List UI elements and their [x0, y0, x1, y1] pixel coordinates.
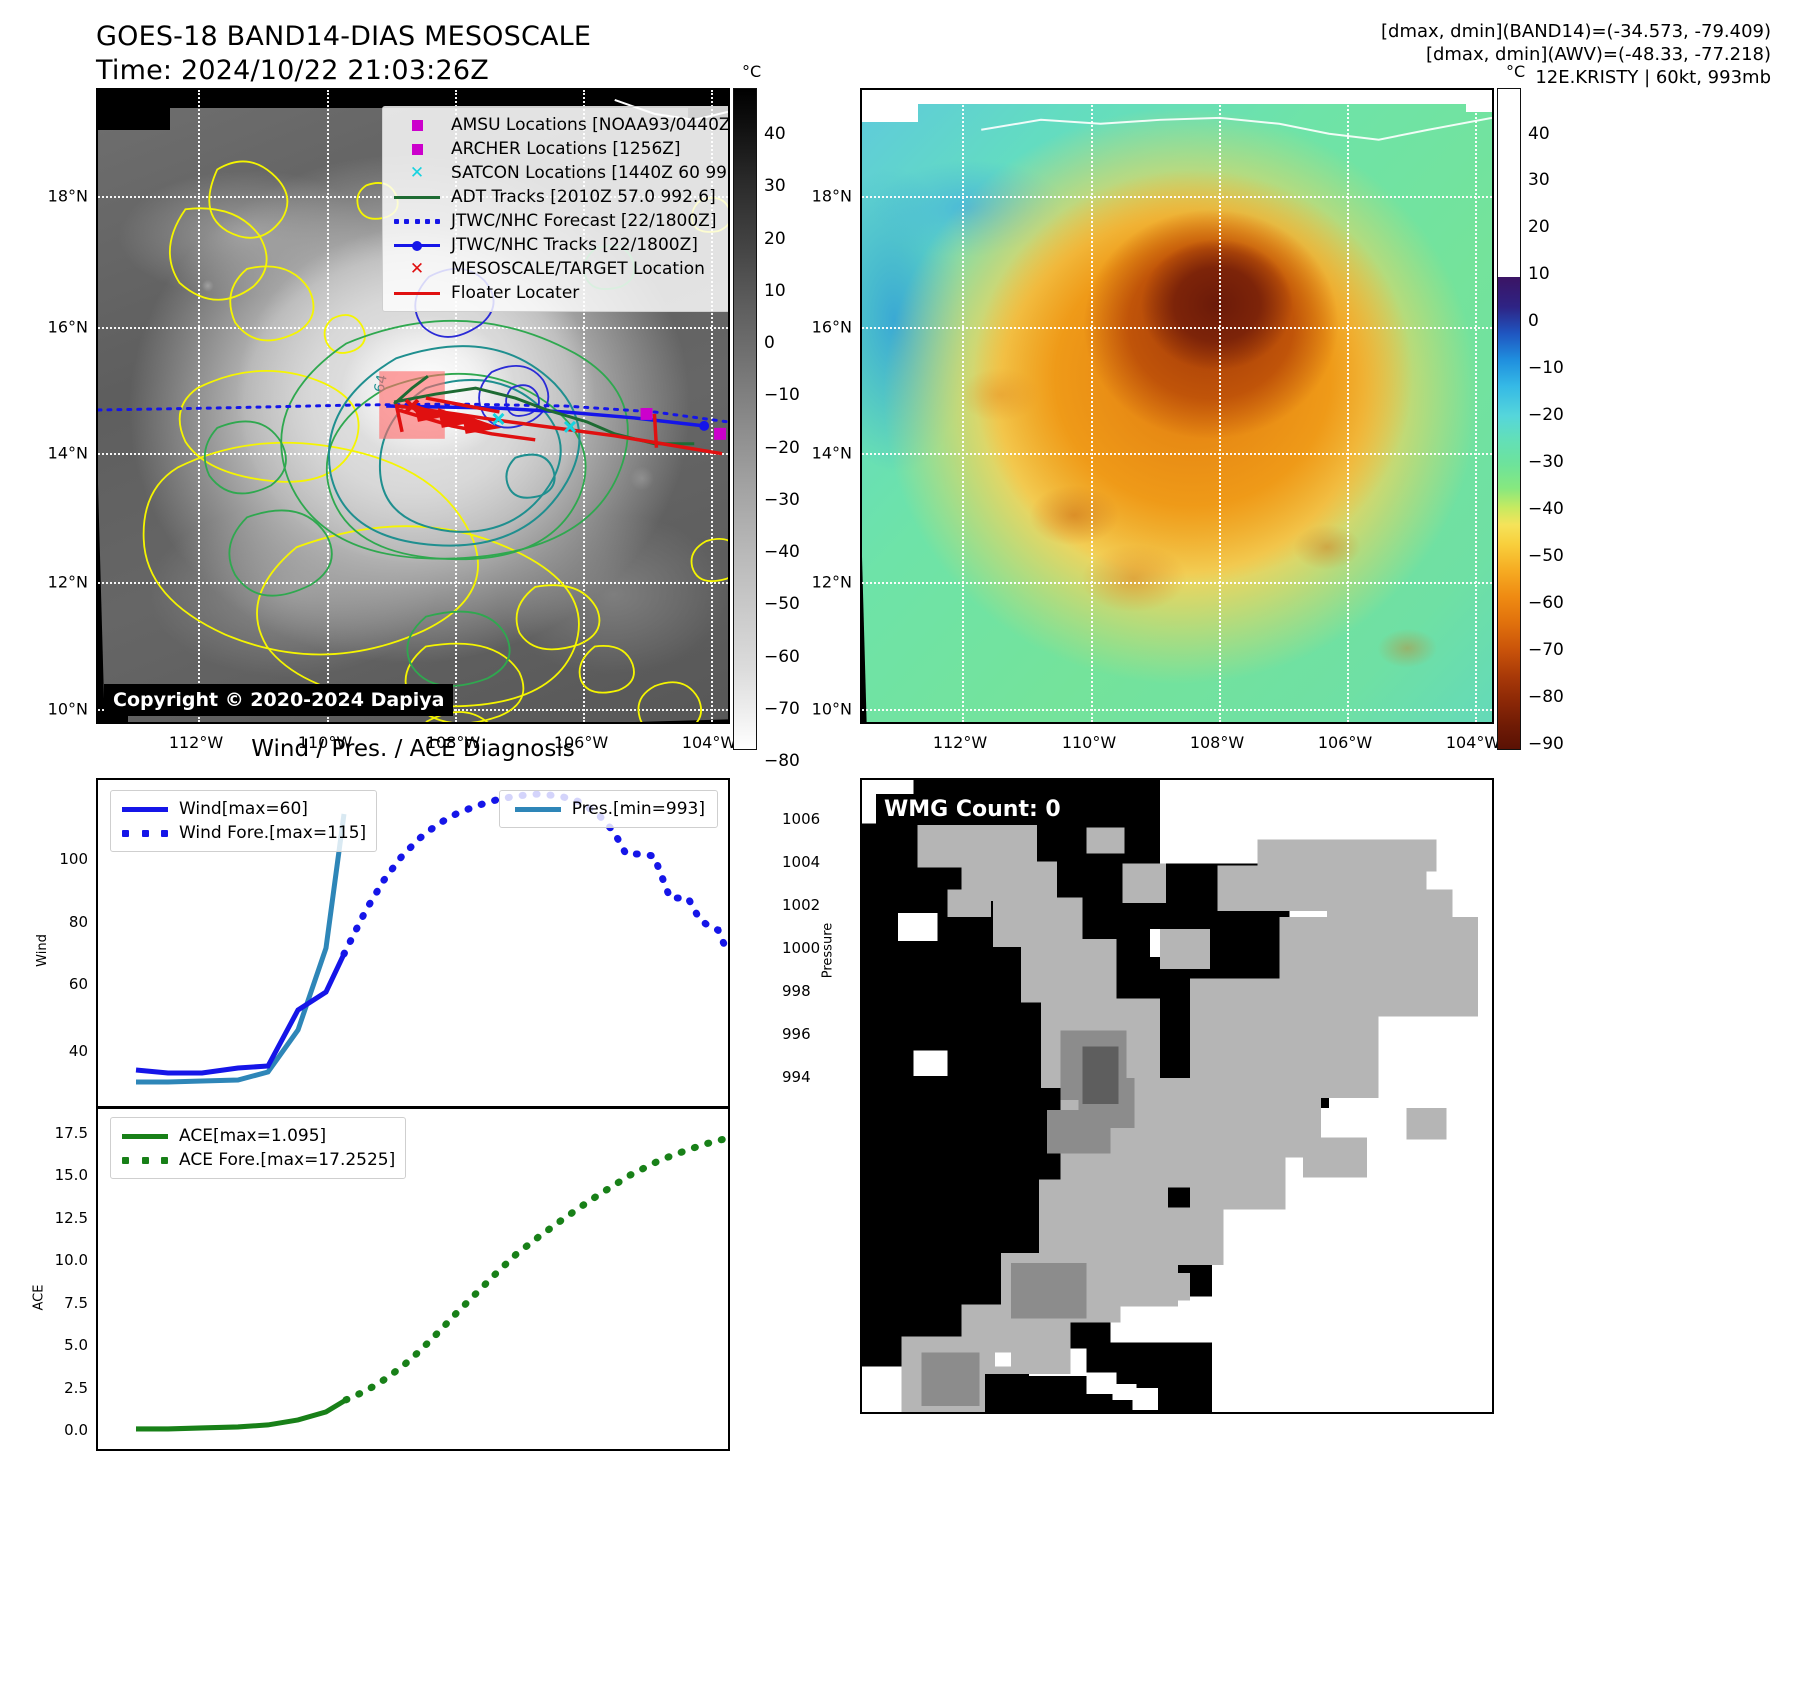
- archer-location-marker: [641, 408, 653, 420]
- wind-ytick-100: 100: [59, 850, 88, 868]
- legend-item-floater-locater[interactable]: Floater Locater: [391, 281, 730, 305]
- legend-label: AMSU Locations [NOAA93/0440Z 50 994]: [451, 114, 730, 136]
- pressure-ylabel: Pressure: [820, 923, 835, 979]
- wv-ytick-18N: 18°N: [812, 187, 852, 206]
- legend-label: SATCON Locations [1440Z 60 998]: [451, 162, 730, 184]
- wv-ytick-10N: 10°N: [812, 700, 852, 719]
- legend-label: ARCHER Locations [1256Z]: [451, 138, 681, 160]
- wind-forecast-dotted-icon: [119, 831, 171, 836]
- page-title: GOES-18 BAND14-DIAS MESOSCALE: [96, 20, 796, 54]
- wmg-count-label: WMG Count: 0: [876, 794, 1069, 825]
- wv-xtick-106W: 106°W: [1318, 733, 1372, 752]
- ace-ytick-0: 0.0: [64, 1421, 88, 1439]
- wmg-cluster-map: [862, 780, 1492, 1412]
- ace-ytick-12.5: 12.5: [55, 1209, 88, 1227]
- floater-line-icon: [391, 292, 443, 295]
- dmax-dmin-band14: [dmax, dmin](BAND14)=(-34.573, -79.409): [1381, 20, 1771, 43]
- legend-label: MESOSCALE/TARGET Location: [451, 258, 705, 280]
- ir-colorbar-gradient: [733, 88, 757, 750]
- legend-item-adt[interactable]: ADT Tracks [2010Z 57.0 992.6]: [391, 185, 730, 209]
- ir-ytick-12N: 12°N: [48, 573, 88, 592]
- wind-chart-legend[interactable]: Wind[max=60] Wind Fore.[max=115]: [110, 790, 377, 852]
- series-pressure: [136, 814, 344, 1082]
- wmg-panel[interactable]: WMG Count: 0: [860, 778, 1494, 1414]
- ir-ytick-14N: 14°N: [48, 444, 88, 463]
- wv-coastline-overlay: [862, 90, 1492, 722]
- legend-item-jtwc-forecast[interactable]: JTWC/NHC Forecast [22/1800Z]: [391, 209, 730, 233]
- wv-xtick-110W: 110°W: [1062, 733, 1116, 752]
- ace-ytick-7.5: 7.5: [64, 1294, 88, 1312]
- ace-ytick-15: 15.0: [55, 1166, 88, 1184]
- wind-ytick-80: 80: [69, 913, 88, 931]
- legend-label: Pres.[min=993]: [572, 798, 705, 820]
- ir-ytick-18N: 18°N: [48, 187, 88, 206]
- wv-colorbar-units: °C: [1506, 62, 1525, 81]
- ace-line-icon: [119, 1134, 171, 1139]
- page-title-block: GOES-18 BAND14-DIAS MESOSCALE Time: 2024…: [96, 20, 796, 88]
- amsu-location-marker: [714, 428, 726, 440]
- ace-ytick-2.5: 2.5: [64, 1379, 88, 1397]
- legend-label: ACE[max=1.095]: [179, 1125, 326, 1147]
- ace-ytick-10: 10.0: [55, 1251, 88, 1269]
- ace-ytick-5: 5.0: [64, 1336, 88, 1354]
- pres-ytick-1002: 1002: [782, 896, 820, 914]
- ir-colorbar-units: °C: [742, 62, 761, 81]
- copyright-badge: Copyright © 2020-2024 Dapiya: [104, 684, 453, 716]
- ace-chart[interactable]: ACE[max=1.095] ACE Fore.[max=17.2525]: [96, 1108, 730, 1451]
- legend-label: JTWC/NHC Tracks [22/1800Z]: [451, 234, 698, 256]
- wv-xtick-104W: 104°W: [1446, 733, 1500, 752]
- wv-ytick-16N: 16°N: [812, 318, 852, 337]
- legend-item-mesoscale-target[interactable]: ✕ MESOSCALE/TARGET Location: [391, 257, 730, 281]
- pressure-line-icon: [512, 807, 564, 812]
- adt-line-icon: [391, 196, 443, 199]
- wind-ylabel: Wind: [35, 934, 50, 967]
- track-line-marker-icon: [391, 240, 443, 250]
- legend-item-amsu[interactable]: AMSU Locations [NOAA93/0440Z 50 994]: [391, 113, 730, 137]
- pres-ytick-1000: 1000: [782, 939, 820, 957]
- pres-ytick-1006: 1006: [782, 810, 820, 828]
- ir-map-legend[interactable]: AMSU Locations [NOAA93/0440Z 50 994] ARC…: [382, 106, 730, 312]
- wind-ytick-40: 40: [69, 1042, 88, 1060]
- legend-item-pressure[interactable]: Pres.[min=993]: [512, 797, 705, 821]
- ace-forecast-dotted-icon: [119, 1158, 171, 1163]
- legend-label: JTWC/NHC Forecast [22/1800Z]: [451, 210, 716, 232]
- dmax-dmin-awv: [dmax, dmin](AWV)=(-48.33, -77.218): [1381, 43, 1771, 66]
- legend-item-wind[interactable]: Wind[max=60]: [119, 797, 366, 821]
- wind-ytick-60: 60: [69, 975, 88, 993]
- wv-satellite-panel[interactable]: [860, 88, 1494, 724]
- ace-ytick-17.5: 17.5: [55, 1124, 88, 1142]
- ace-ylabel: ACE: [31, 1285, 46, 1311]
- ace-chart-legend[interactable]: ACE[max=1.095] ACE Fore.[max=17.2525]: [110, 1117, 406, 1179]
- ir-satellite-panel[interactable]: 64: [96, 88, 730, 724]
- satcon-x-icon: ✕: [391, 165, 443, 182]
- wv-xtick-108W: 108°W: [1190, 733, 1244, 752]
- legend-label: Floater Locater: [451, 282, 579, 304]
- pres-ytick-998: 998: [782, 982, 811, 1000]
- legend-item-archer[interactable]: ARCHER Locations [1256Z]: [391, 137, 730, 161]
- wv-ytick-12N: 12°N: [812, 573, 852, 592]
- wind-pressure-chart[interactable]: Wind[max=60] Wind Fore.[max=115] Pres.[m…: [96, 778, 730, 1108]
- series-ace: [136, 1400, 346, 1429]
- legend-label: Wind[max=60]: [179, 798, 308, 820]
- ir-ytick-10N: 10°N: [48, 700, 88, 719]
- pressure-chart-legend[interactable]: Pres.[min=993]: [499, 790, 718, 828]
- pres-ytick-994: 994: [782, 1068, 811, 1086]
- legend-item-jtwc-tracks[interactable]: JTWC/NHC Tracks [22/1800Z]: [391, 233, 730, 257]
- archer-square-icon: [391, 144, 443, 155]
- legend-label: ACE Fore.[max=17.2525]: [179, 1149, 395, 1171]
- legend-item-ace[interactable]: ACE[max=1.095]: [119, 1124, 395, 1148]
- pres-ytick-996: 996: [782, 1025, 811, 1043]
- legend-item-satcon[interactable]: ✕ SATCON Locations [1440Z 60 998]: [391, 161, 730, 185]
- ir-ytick-16N: 16°N: [48, 318, 88, 337]
- legend-label: Wind Fore.[max=115]: [179, 822, 366, 844]
- forecast-dotted-icon: [391, 219, 443, 224]
- legend-item-wind-forecast[interactable]: Wind Fore.[max=115]: [119, 821, 366, 845]
- target-x-icon: ✕: [391, 261, 443, 278]
- series-wind: [136, 954, 344, 1073]
- wv-colorbar-gradient: [1497, 88, 1521, 750]
- wv-ytick-14N: 14°N: [812, 444, 852, 463]
- legend-label: ADT Tracks [2010Z 57.0 992.6]: [451, 186, 716, 208]
- pres-ytick-1004: 1004: [782, 853, 820, 871]
- amsu-square-icon: [391, 120, 443, 131]
- wv-xtick-112W: 112°W: [933, 733, 987, 752]
- header-stats-block: [dmax, dmin](BAND14)=(-34.573, -79.409) …: [1381, 20, 1771, 89]
- legend-item-ace-forecast[interactable]: ACE Fore.[max=17.2525]: [119, 1148, 395, 1172]
- wind-line-icon: [119, 807, 171, 812]
- chart-title: Wind / Pres. / ACE Diagnosis: [96, 736, 730, 762]
- page-timestamp: Time: 2024/10/22 21:03:26Z: [96, 54, 796, 88]
- storm-summary: 12E.KRISTY | 60kt, 993mb: [1381, 66, 1771, 89]
